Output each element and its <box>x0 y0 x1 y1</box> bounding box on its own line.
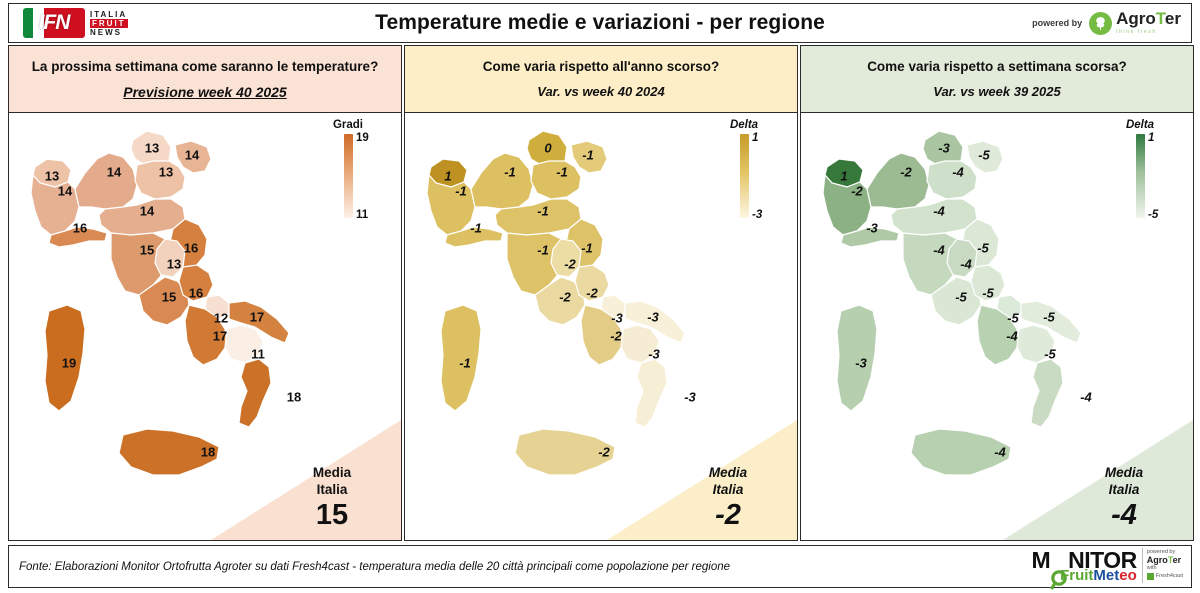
monitor-partner-badges: powered by AgroTer with Fresh4cast <box>1142 548 1183 583</box>
media-value: 15 <box>277 499 387 532</box>
region-calabria <box>1031 359 1063 427</box>
panel-subtitle: Previsione week 40 2025 <box>123 84 286 100</box>
panel-header-vs-settimana: Come varia rispetto a settimana scorsa? … <box>800 45 1194 113</box>
media-label-line2: Italia <box>277 481 387 498</box>
region-value-abruzzo: -2 <box>586 286 598 301</box>
panel-body-vs-anno: 1-1-10-1-1-1-1-1-1-2-2-2-3-2-3-3-3-2-1 D… <box>404 113 798 541</box>
region-value-campania: 17 <box>213 329 227 344</box>
panel-question: La prossima settimana come saranno le te… <box>32 59 379 74</box>
region-value-marche: 16 <box>184 241 198 256</box>
badge-agroter: AgroTer <box>1147 556 1183 564</box>
region-value-emilia-romagna: -1 <box>537 204 549 219</box>
region-value-puglia: 17 <box>250 310 264 325</box>
region-value-lombardia: -2 <box>900 165 912 180</box>
panel-header-vs-anno: Come varia rispetto all'anno scorso? Var… <box>404 45 798 113</box>
region-value-lazio: -2 <box>559 290 571 305</box>
region-value-toscana: 15 <box>140 243 154 258</box>
region-value-campania: -4 <box>1006 329 1018 344</box>
panel-body-vs-settimana: 1-2-2-3-5-4-3-4-4-5-4-5-5-5-4-5-5-4-4-3 … <box>800 113 1194 541</box>
region-value-trentino-alto-adige: 0 <box>544 141 551 156</box>
region-value-piemonte: -1 <box>455 184 467 199</box>
region-calabria <box>635 359 667 427</box>
region-value-valle-daosta: 1 <box>444 169 451 184</box>
region-value-lazio: 15 <box>162 290 176 305</box>
legend-gradi: Gradi 19 11 <box>309 119 387 218</box>
agroter-logo: AgroTer think fresh <box>1089 11 1181 35</box>
region-value-veneto: -1 <box>556 165 568 180</box>
media-italia-text: Media Italia -2 <box>673 464 783 532</box>
media-label-line2: Italia <box>1069 481 1179 498</box>
panel-question: Come varia rispetto a settimana scorsa? <box>867 59 1127 74</box>
legend-gradient-bar <box>344 134 353 218</box>
region-lombardia <box>867 153 929 209</box>
region-value-liguria: -1 <box>470 221 482 236</box>
region-value-basilicata: -5 <box>1044 347 1056 362</box>
source-note: Fonte: Elaborazioni Monitor Ortofrutta A… <box>19 561 730 573</box>
region-value-abruzzo: 16 <box>189 286 203 301</box>
ifn-logo-mark: IFN <box>23 8 85 38</box>
legend-high-value: 1 <box>752 132 758 144</box>
panel-vs-anno: Come varia rispetto all'anno scorso? Var… <box>404 45 798 542</box>
region-value-calabria: 18 <box>287 390 301 405</box>
media-italia-text: Media Italia -4 <box>1069 464 1179 532</box>
panel-subtitle: Var. vs week 39 2025 <box>933 84 1060 99</box>
region-value-basilicata: 11 <box>251 347 265 362</box>
legend-title: Delta <box>1101 119 1179 131</box>
region-value-molise: -5 <box>1007 311 1019 326</box>
region-value-puglia: -3 <box>647 310 659 325</box>
legend-high-value: 19 <box>356 132 369 144</box>
media-value: -2 <box>673 499 783 532</box>
region-value-sardegna: 19 <box>62 356 76 371</box>
region-value-lombardia: -1 <box>504 165 516 180</box>
agroter-name: AgroTer <box>1116 9 1181 28</box>
powered-by-block: powered by AgroTer think fresh <box>1032 4 1181 42</box>
region-value-friuli-venezia-giulia: -1 <box>582 148 594 163</box>
media-label-line1: Media <box>277 464 387 481</box>
monitor-fruitmeteo-logo: M NITOR FruitMeteo powered by AgroTer wi… <box>1031 548 1183 583</box>
panel-subtitle: Var. vs week 40 2024 <box>537 84 664 99</box>
panel-previsione: La prossima settimana come saranno le te… <box>8 45 402 542</box>
media-italia-previsione: Media Italia 15 <box>211 420 401 540</box>
panel-header-previsione: La prossima settimana come saranno le te… <box>8 45 402 113</box>
region-value-friuli-venezia-giulia: 14 <box>185 148 199 163</box>
legend-gradient-bar <box>740 134 749 218</box>
legend-title: Gradi <box>309 119 387 131</box>
region-value-trentino-alto-adige: 13 <box>145 141 159 156</box>
region-value-emilia-romagna: 14 <box>140 204 154 219</box>
panel-body-previsione: 1314141314131614151613151612171711181819… <box>8 113 402 541</box>
legend-high-value: 1 <box>1148 132 1154 144</box>
page-title: Temperature medie e variazioni - per reg… <box>9 4 1191 42</box>
legend-low-value: -5 <box>1148 209 1158 221</box>
media-italia-text: Media Italia 15 <box>277 464 387 532</box>
powered-by-label: powered by <box>1032 18 1082 28</box>
region-value-sardegna: -1 <box>459 356 471 371</box>
media-label-line2: Italia <box>673 481 783 498</box>
region-lombardia <box>471 153 533 209</box>
region-value-basilicata: -3 <box>648 347 660 362</box>
region-value-calabria: -3 <box>684 390 696 405</box>
region-value-emilia-romagna: -4 <box>933 204 945 219</box>
legend-scale: 1 -5 <box>1101 134 1179 218</box>
region-value-lombardia: 14 <box>107 165 121 180</box>
region-value-umbria: -2 <box>564 257 576 272</box>
legend-title: Delta <box>705 119 783 131</box>
ifn-logo-words: ITALIA FRUIT NEWS <box>90 10 128 37</box>
agroter-wordmark: AgroTer think fresh <box>1116 11 1181 35</box>
legend-scale: 19 11 <box>309 134 387 218</box>
media-italia-vs-settimana: Media Italia -4 <box>1003 420 1193 540</box>
legend-gradient-bar <box>1136 134 1145 218</box>
legend-low-value: 11 <box>356 209 368 221</box>
region-value-marche: -5 <box>977 241 989 256</box>
region-value-campania: -2 <box>610 329 622 344</box>
header-bar: IFN ITALIA FRUIT NEWS Temperature medie … <box>8 3 1192 43</box>
agroter-tagline: think fresh <box>1116 29 1181 35</box>
region-value-umbria: 13 <box>167 257 181 272</box>
region-value-liguria: 16 <box>73 221 87 236</box>
region-value-lazio: -5 <box>955 290 967 305</box>
region-value-liguria: -3 <box>866 221 878 236</box>
media-label-line1: Media <box>1069 464 1179 481</box>
legend-delta-settimana: Delta 1 -5 <box>1101 119 1179 218</box>
media-italia-vs-anno: Media Italia -2 <box>607 420 797 540</box>
region-value-puglia: -5 <box>1043 310 1055 325</box>
ifn-word-news: NEWS <box>90 28 128 37</box>
footer-bar: Fonte: Elaborazioni Monitor Ortofrutta A… <box>8 545 1192 588</box>
region-value-umbria: -4 <box>960 257 972 272</box>
region-value-veneto: 13 <box>159 165 173 180</box>
region-value-piemonte: -2 <box>851 184 863 199</box>
panel-question: Come varia rispetto all'anno scorso? <box>483 59 720 74</box>
region-value-trentino-alto-adige: -3 <box>938 141 950 156</box>
region-value-valle-daosta: 1 <box>840 169 847 184</box>
monitor-wordmark: M NITOR FruitMeteo <box>1031 550 1136 583</box>
region-value-abruzzo: -5 <box>982 286 994 301</box>
badge-fresh4cast: Fresh4cast <box>1147 572 1183 580</box>
ifn-logo: IFN ITALIA FRUIT NEWS <box>23 8 128 38</box>
tree-icon <box>1089 12 1112 35</box>
region-value-molise: 12 <box>214 311 228 326</box>
magnifier-icon <box>1050 570 1068 591</box>
region-value-marche: -1 <box>581 241 593 256</box>
legend-low-value: -3 <box>752 209 762 221</box>
media-label-line1: Media <box>673 464 783 481</box>
region-value-sardegna: -3 <box>855 356 867 371</box>
infographic-root: IFN ITALIA FRUIT NEWS Temperature medie … <box>0 0 1200 593</box>
region-value-valle-daosta: 13 <box>45 169 59 184</box>
region-lombardia <box>75 153 137 209</box>
legend-scale: 1 -3 <box>705 134 783 218</box>
legend-delta-anno: Delta 1 -3 <box>705 119 783 218</box>
region-value-molise: -3 <box>611 311 623 326</box>
region-value-piemonte: 14 <box>58 184 72 199</box>
badge-with-label: with <box>1147 564 1183 572</box>
panel-vs-settimana: Come varia rispetto a settimana scorsa? … <box>800 45 1194 542</box>
region-calabria <box>239 359 271 427</box>
region-value-friuli-venezia-giulia: -5 <box>978 148 990 163</box>
ifn-word-fruit: FRUIT <box>90 19 128 28</box>
region-value-toscana: -4 <box>933 243 945 258</box>
ifn-word-italia: ITALIA <box>90 10 128 19</box>
media-value: -4 <box>1069 499 1179 532</box>
region-value-calabria: -4 <box>1080 390 1092 405</box>
region-value-toscana: -1 <box>537 243 549 258</box>
region-value-veneto: -4 <box>952 165 964 180</box>
fresh4cast-icon <box>1147 573 1154 580</box>
